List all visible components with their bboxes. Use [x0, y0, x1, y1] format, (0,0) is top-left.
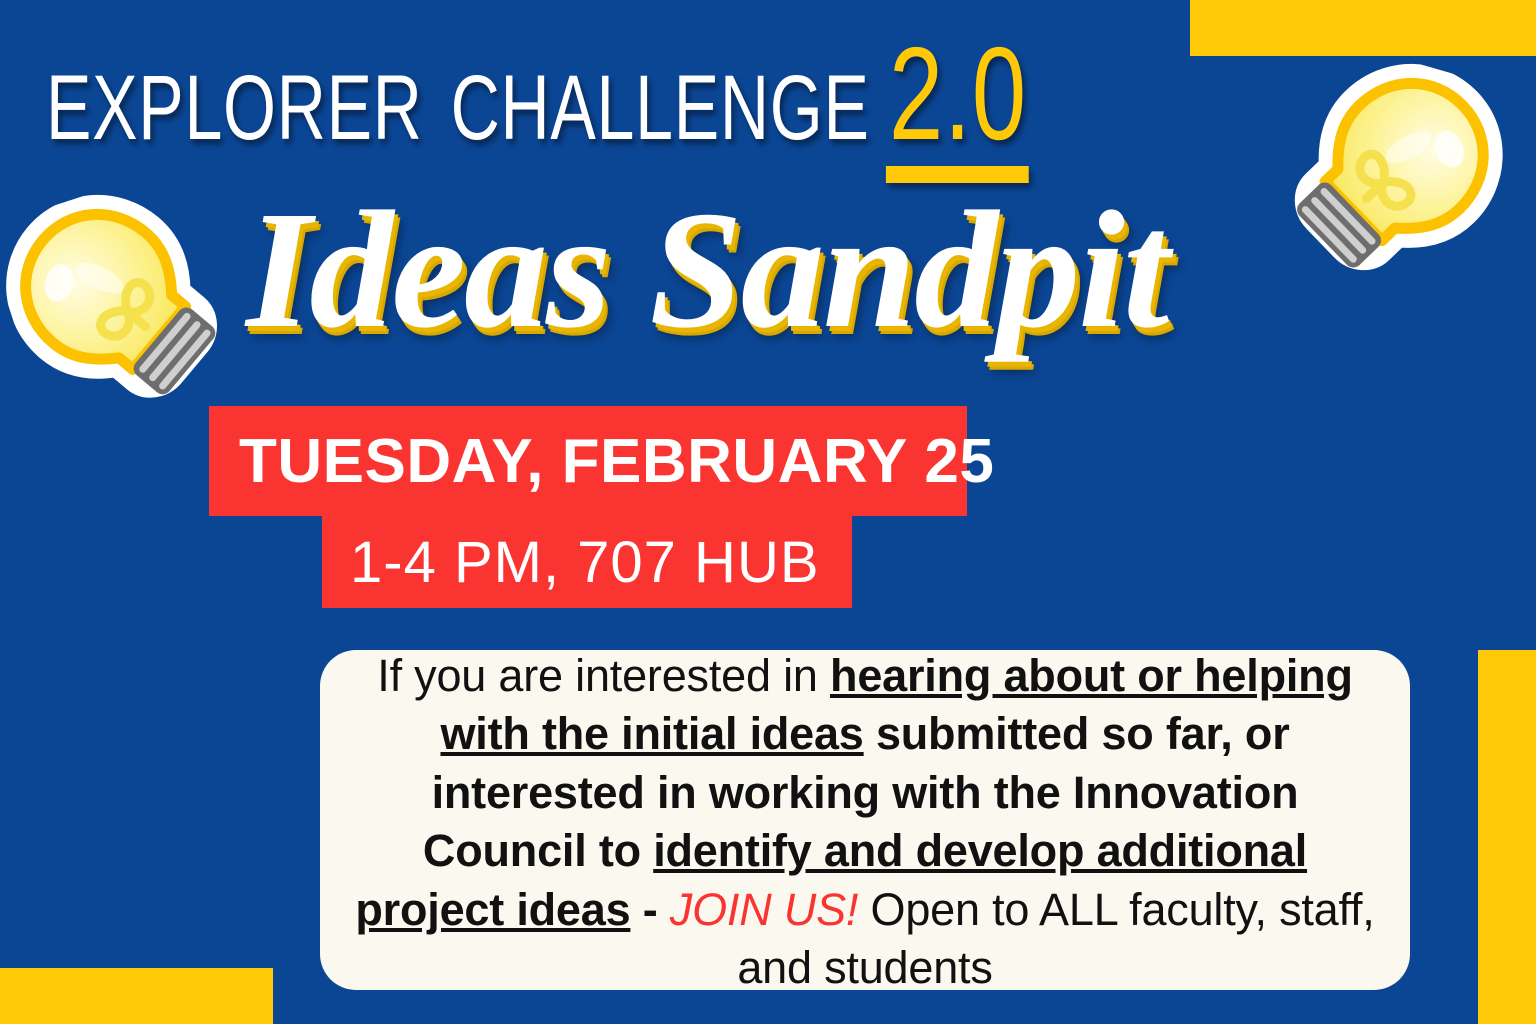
decoration-bottom-left-rectangle: [0, 968, 273, 1024]
event-time-location-banner: 1-4 PM, 707 HUB: [322, 516, 852, 608]
lightbulb-icon: [0, 167, 245, 448]
subtitle: Ideas Sandpit: [246, 186, 1168, 354]
decoration-right-vertical-bar: [1478, 650, 1536, 1024]
description-dash: -: [630, 884, 669, 935]
event-time-location-label: 1-4 PM, 707 HUB: [350, 529, 820, 596]
description-lead: If you are interested in: [377, 650, 830, 701]
event-date-banner: TUESDAY, FEBRUARY 25: [209, 406, 967, 516]
description-card: If you are interested in hearing about o…: [320, 650, 1410, 990]
headline-version: 2.0: [889, 20, 1027, 167]
description-text: If you are interested in hearing about o…: [354, 647, 1376, 998]
lightbulb-icon: [1268, 39, 1524, 315]
page-title: Explorer Challenge2.0: [46, 28, 904, 160]
event-date-label: TUESDAY, FEBRUARY 25: [239, 426, 994, 497]
join-us-call: JOIN US!: [670, 884, 858, 935]
headline-main: Explorer Challenge: [46, 20, 870, 167]
event-flyer: Explorer Challenge2.0 Ideas Sandpit TUES…: [0, 0, 1536, 1024]
